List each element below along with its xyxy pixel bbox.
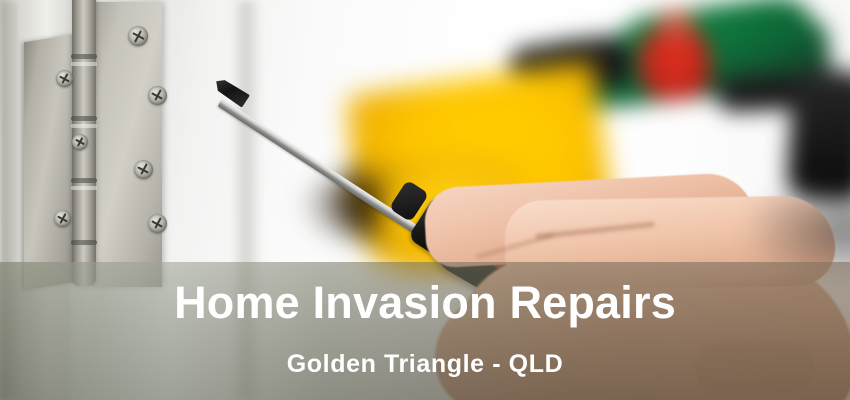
screwdriver-shaft <box>218 99 433 243</box>
hinge-knuckle-gap <box>71 178 97 183</box>
hinge-screw <box>72 134 88 150</box>
hinge-knuckle-highlight <box>71 124 97 128</box>
hinge-knuckle-highlight <box>71 186 97 190</box>
hero-banner: Home Invasion Repairs Golden Triangle - … <box>0 0 850 400</box>
door-hinge <box>24 0 162 282</box>
hinge-knuckle-gap <box>71 54 97 59</box>
hinge-screw <box>148 214 167 233</box>
hinge-screw <box>134 160 153 179</box>
hinge-leaf-right <box>92 2 162 287</box>
drill-red-accent-secondary <box>658 10 694 40</box>
hinge-screw <box>56 70 73 87</box>
hinge-screw <box>54 210 71 227</box>
page-title: Home Invasion Repairs <box>174 278 676 328</box>
hinge-screw <box>128 26 148 46</box>
hinge-knuckle-gap <box>71 240 97 245</box>
page-subtitle: Golden Triangle - QLD <box>287 349 564 379</box>
hero-text-block: Home Invasion Repairs Golden Triangle - … <box>0 262 850 400</box>
screwdriver-tip <box>212 76 250 108</box>
hinge-knuckle-gap <box>71 116 97 121</box>
hinge-knuckle-highlight <box>71 62 97 66</box>
hinge-screw <box>148 86 167 105</box>
